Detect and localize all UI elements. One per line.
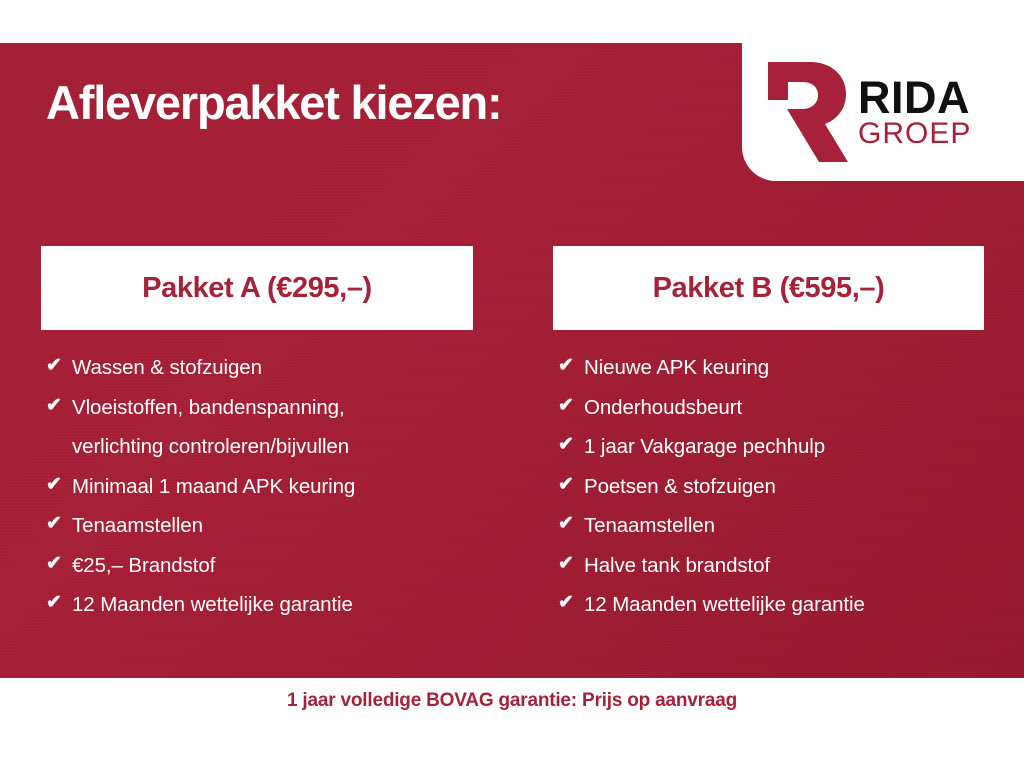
package-b-title: Pakket B (€595,–) <box>653 272 885 305</box>
list-item-label: 12 Maanden wettelijke garantie <box>584 585 984 625</box>
check-icon: ✔ <box>558 467 584 504</box>
list-item-label: Minimaal 1 maand APK keuring <box>72 467 473 507</box>
list-item-label: Nieuwe APK keuring <box>584 348 984 388</box>
slide-canvas: Afleverpakket kiezen: RIDA GROEP Pakket … <box>0 0 1024 768</box>
list-item-label: Halve tank brandstof <box>584 546 984 586</box>
package-a-header: Pakket A (€295,–) <box>41 246 473 330</box>
list-item: ✔ Halve tank brandstof <box>558 546 984 586</box>
list-item-label: 12 Maanden wettelijke garantie <box>72 585 473 625</box>
check-icon: ✔ <box>46 506 72 543</box>
package-b-header: Pakket B (€595,–) <box>553 246 984 330</box>
package-card-a[interactable]: Pakket A (€295,–) ✔ Wassen & stofzuigen … <box>41 246 473 625</box>
check-icon: ✔ <box>558 585 584 622</box>
list-item-label: Tenaamstellen <box>584 506 984 546</box>
package-b-feature-list: ✔ Nieuwe APK keuring ✔ Onderhoudsbeurt ✔… <box>553 330 984 625</box>
list-item: ✔ 12 Maanden wettelijke garantie <box>46 585 473 625</box>
list-item: ✔ 12 Maanden wettelijke garantie <box>558 585 984 625</box>
list-item: ✔ €25,– Brandstof <box>46 546 473 586</box>
list-item-label: Tenaamstellen <box>72 506 473 546</box>
package-card-b[interactable]: Pakket B (€595,–) ✔ Nieuwe APK keuring ✔… <box>553 246 984 625</box>
packages-row: Pakket A (€295,–) ✔ Wassen & stofzuigen … <box>0 246 1024 646</box>
package-a-title: Pakket A (€295,–) <box>142 272 372 305</box>
list-item-label: Vloeistoffen, bandenspanning, verlichtin… <box>72 388 473 467</box>
list-item: ✔ Poetsen & stofzuigen <box>558 467 984 507</box>
check-icon: ✔ <box>558 427 584 464</box>
check-icon: ✔ <box>558 388 584 425</box>
list-item: ✔ Tenaamstellen <box>46 506 473 546</box>
logo-primary-text: RIDA <box>858 77 971 118</box>
brand-logo: RIDA GROEP <box>742 43 1024 181</box>
list-item: ✔ Tenaamstellen <box>558 506 984 546</box>
top-white-strip <box>0 0 1024 43</box>
package-a-feature-list: ✔ Wassen & stofzuigen ✔ Vloeistoffen, ba… <box>41 330 473 625</box>
list-item: ✔ Wassen & stofzuigen <box>46 348 473 388</box>
list-item-label: Onderhoudsbeurt <box>584 388 984 428</box>
footer-banner: 1 jaar volledige BOVAG garantie: Prijs o… <box>0 678 1024 768</box>
list-item: ✔ Vloeistoffen, bandenspanning, verlicht… <box>46 388 473 467</box>
rida-r-mark-icon <box>756 56 852 168</box>
page-title: Afleverpakket kiezen: <box>46 78 501 127</box>
check-icon: ✔ <box>46 585 72 622</box>
check-icon: ✔ <box>46 388 72 425</box>
list-item: ✔ Onderhoudsbeurt <box>558 388 984 428</box>
list-item-label: Poetsen & stofzuigen <box>584 467 984 507</box>
check-icon: ✔ <box>558 506 584 543</box>
list-item-label: 1 jaar Vakgarage pechhulp <box>584 427 984 467</box>
check-icon: ✔ <box>558 348 584 385</box>
footer-text: 1 jaar volledige BOVAG garantie: Prijs o… <box>287 690 737 712</box>
check-icon: ✔ <box>46 546 72 583</box>
check-icon: ✔ <box>46 467 72 504</box>
list-item: ✔ Minimaal 1 maand APK keuring <box>46 467 473 507</box>
check-icon: ✔ <box>558 546 584 583</box>
list-item-label: Wassen & stofzuigen <box>72 348 473 388</box>
list-item-label: €25,– Brandstof <box>72 546 473 586</box>
check-icon: ✔ <box>46 348 72 385</box>
list-item: ✔ 1 jaar Vakgarage pechhulp <box>558 427 984 467</box>
logo-secondary-text: GROEP <box>858 120 971 148</box>
logo-wordmark: RIDA GROEP <box>858 77 971 148</box>
list-item: ✔ Nieuwe APK keuring <box>558 348 984 388</box>
